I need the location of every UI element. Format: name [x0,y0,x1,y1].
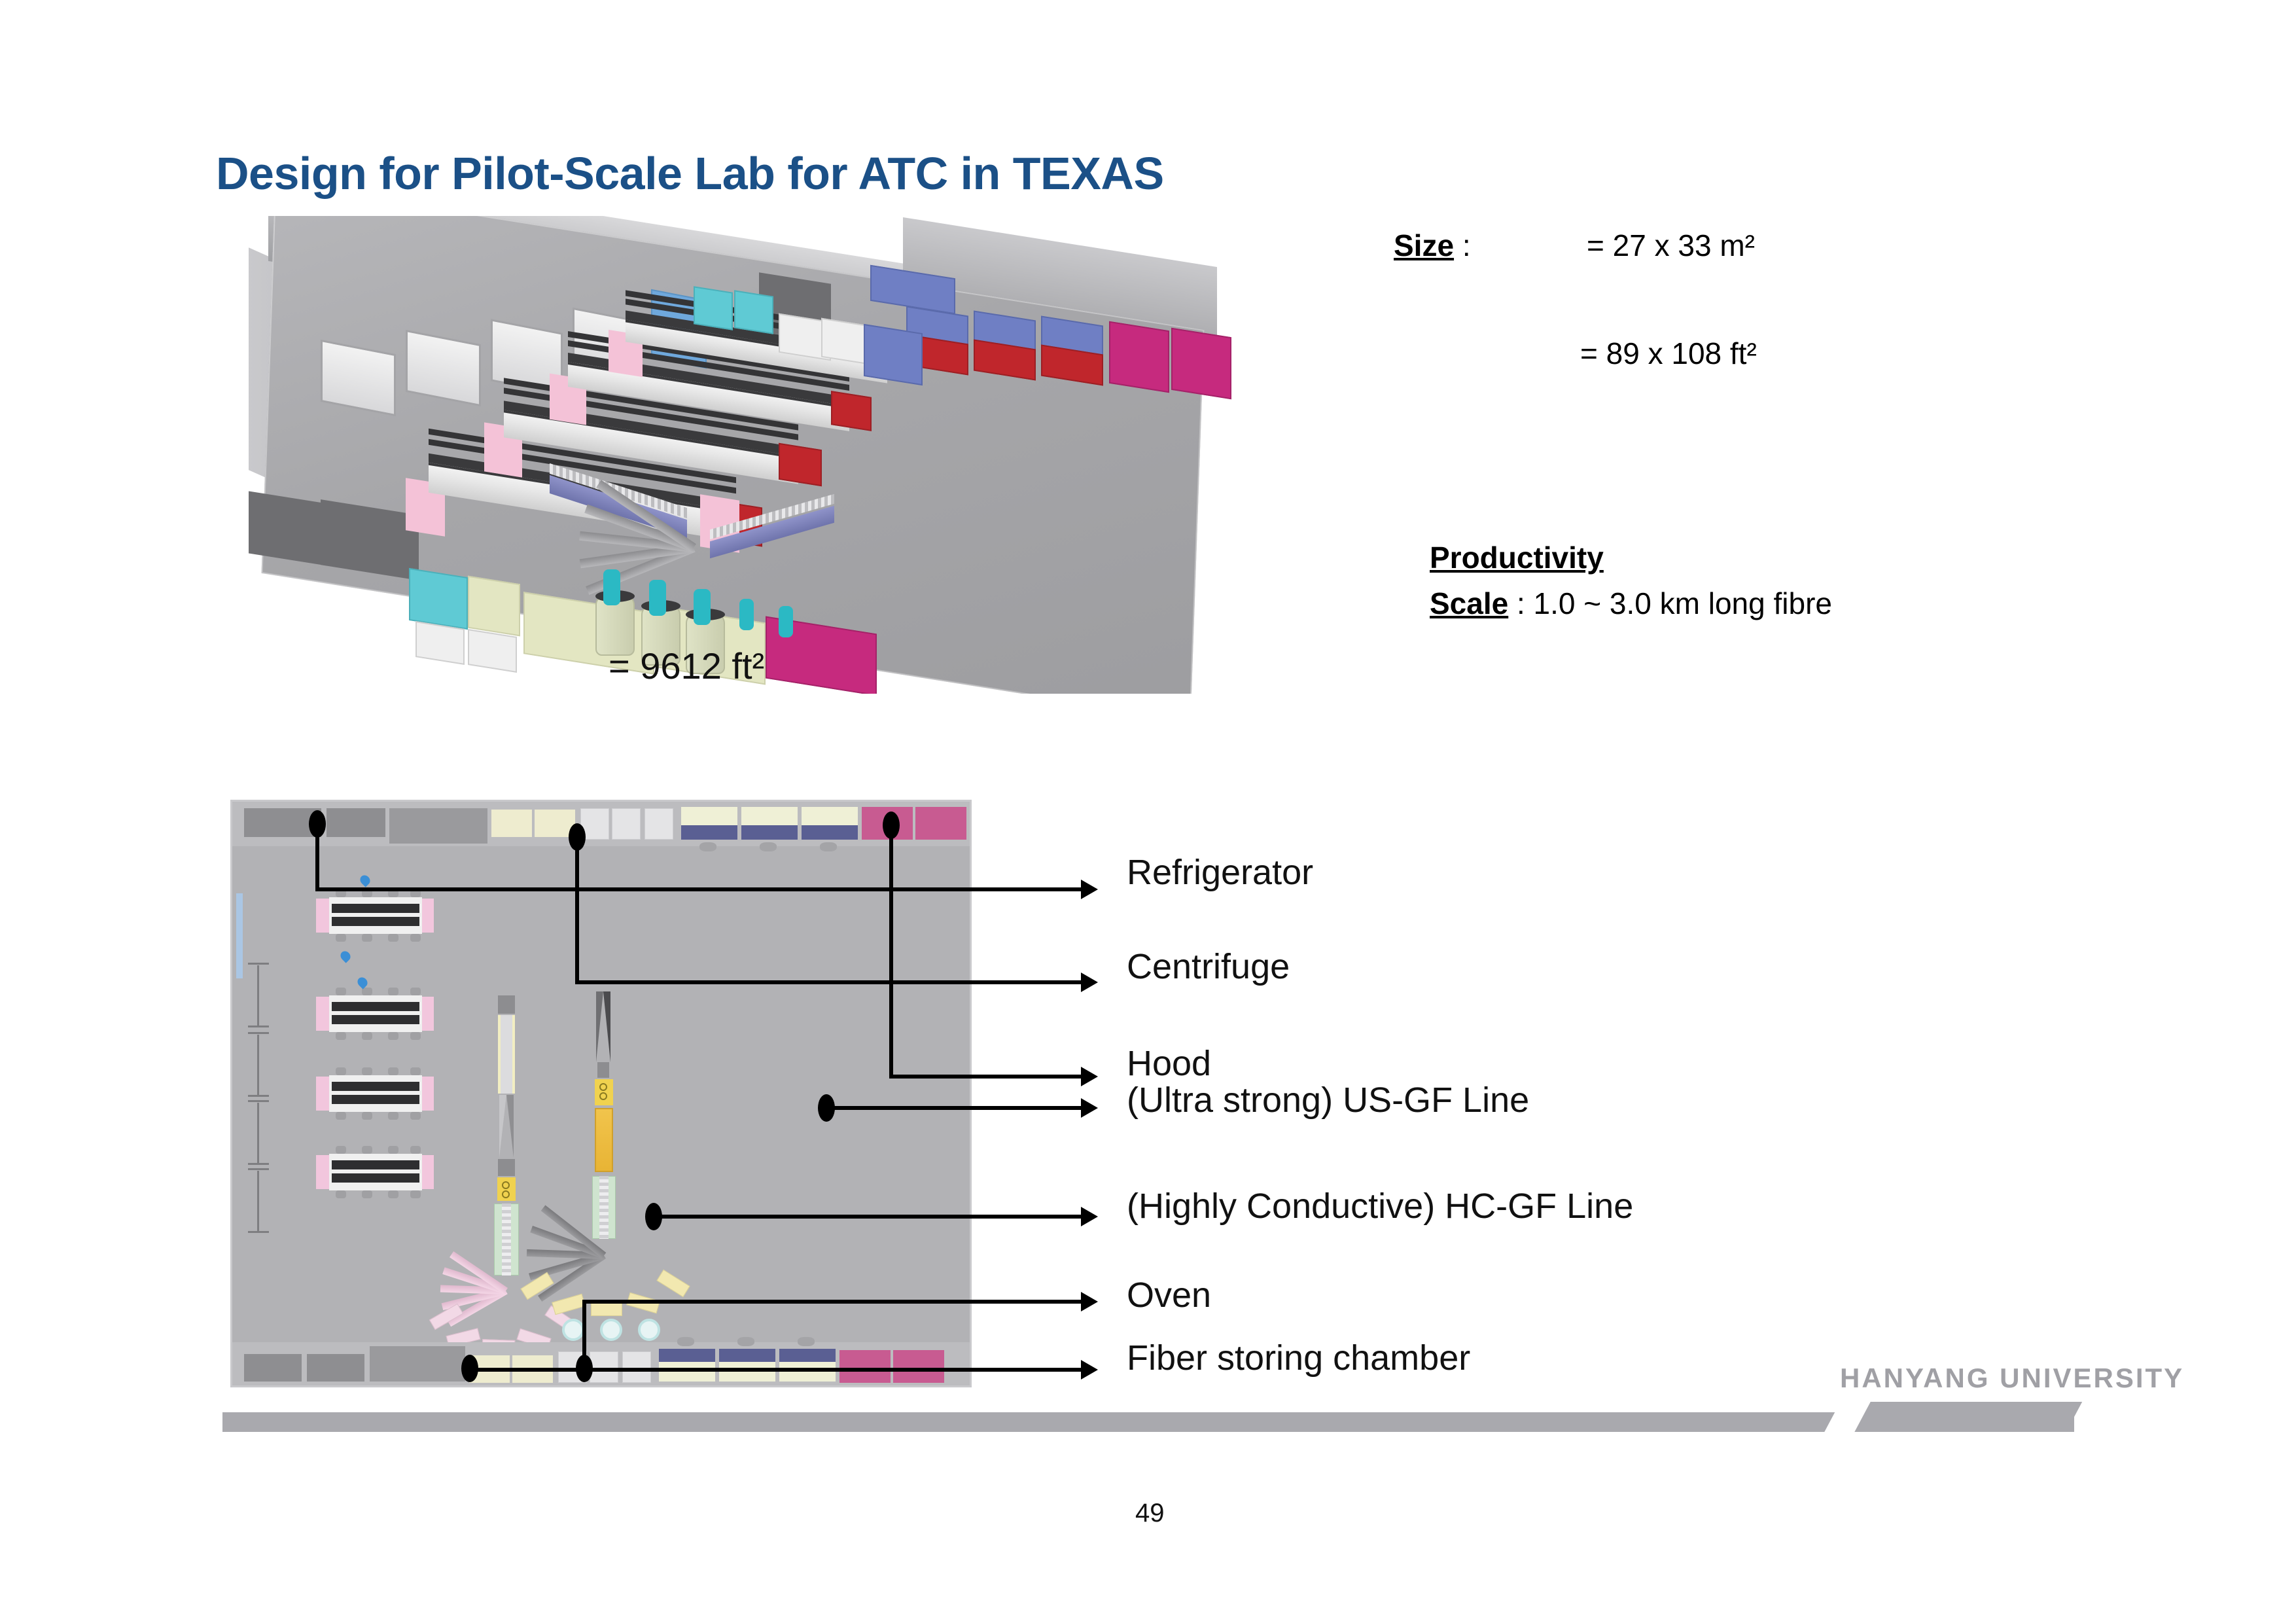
plan-module-grey [244,1354,302,1382]
render-shelving [468,629,517,673]
plan-module-cabinet [645,808,673,840]
render-cabinet [694,286,733,330]
plan-hood-knob [820,842,837,851]
scale-label-text: Scale [1430,586,1508,620]
hcgf-spinneret-tip [591,1303,622,1316]
lab-3d-render: = 9612 ft² [242,216,1250,694]
render-area-label: = 9612 ft² [609,645,764,687]
callout-label-centrifuge: Centrifuge [1127,946,1290,987]
callout-leader-refrigerator [315,887,1081,891]
callout-arrow-hcgf [1081,1207,1098,1226]
productivity-label: Productivity [1430,540,1604,575]
callout-dot-refrigerator [309,810,326,838]
hcgf-taper-head [596,991,610,1062]
hcgf-bath-core [599,1176,609,1239]
render-shelving [415,621,465,665]
plan-module-hood-panel [659,1349,715,1363]
usgf-bath-core [502,1204,511,1275]
scale-value-text: : 1.0 ~ 3.0 km long fibre [1508,586,1832,620]
usgf-taper [499,1095,514,1158]
plan-module-hood [741,807,798,827]
usgf-spool [502,1181,510,1189]
callout-leader-usgf [826,1106,1081,1110]
size-value-imperial: = 89 x 108 ft² [1580,336,1757,371]
usgf-tube-edge [512,1015,515,1094]
plan-marker-icon [338,949,352,963]
productivity-label-text: Productivity [1430,541,1604,575]
render-cabinet [1171,328,1231,400]
callout-arrow-oven [1081,1292,1098,1311]
plan-marker-icon [358,873,372,887]
render-teal-vessel [779,606,793,637]
callout-label-hood: Hood [1127,1043,1211,1084]
plan-module-hood-panel [779,1349,836,1363]
plan-module-refrigerator [839,1350,891,1383]
callout-arrow-refrigerator [1081,880,1098,899]
plan-module-grey [327,808,385,837]
callout-dot-usgf [818,1094,835,1122]
size-label: Size : [1394,228,1471,263]
size-label-text: Size [1394,228,1454,262]
plan-module-cabinet [622,1351,651,1383]
callout-label-usgf: (Ultra strong) US-GF Line [1127,1080,1529,1120]
plan-module-grey [389,808,487,844]
callout-arrow-usgf [1081,1098,1098,1118]
plan-module-hood [681,807,737,827]
plan-module-hood-panel [802,825,858,840]
hcgf-spool [599,1092,607,1100]
footer-bar-accent [1850,1402,2082,1432]
render-shelving [468,576,520,637]
callout-dot-centrifuge [569,823,586,851]
plan-module-hood [802,807,858,827]
callout-leader-fiber-storing-chamber [468,1368,1081,1372]
plan-hood-knob [699,842,716,851]
render-shelving [409,568,468,630]
hcgf-spool [599,1083,607,1091]
usgf-head-block [498,995,515,1014]
callout-leader-oven [582,1300,586,1363]
callout-leader-hood [889,823,893,1077]
plan-module-hood-panel [681,825,737,840]
slide-canvas: Design for Pilot-Scale Lab for ATC in TE… [0,0,2296,1623]
usgf-tube-edge [498,1015,501,1094]
render-teal-vessel [649,580,666,616]
plan-hood-knob [798,1337,815,1346]
plan-fiber-roll [562,1319,584,1341]
plan-module-grey [307,1354,364,1382]
callout-arrow-fiber-storing-chamber [1081,1360,1098,1380]
callout-leader-hood [889,1075,1081,1079]
size-colon: : [1454,228,1471,262]
plan-module-refrigerator [893,1350,944,1383]
render-cabinet [734,290,773,334]
size-value-metric: = 27 x 33 m² [1587,228,1755,263]
hcgf-block [597,1062,609,1078]
plan-module-cream [491,810,532,837]
render-teal-vessel [603,569,620,605]
callout-dot-hcgf [645,1203,662,1230]
hcgf-spinneret-tip [656,1270,690,1297]
render-teal-vessel [694,589,711,625]
callout-label-refrigerator: Refrigerator [1127,852,1313,893]
plan-module-hood [659,1362,715,1382]
plan-module-hood [779,1362,836,1382]
plan-fiber-roll [600,1319,622,1341]
plan-fiber-roll [638,1319,660,1341]
callout-leader-oven [582,1300,1081,1304]
hcgf-spinneret-tip [552,1294,586,1315]
productivity-scale: Scale : 1.0 ~ 3.0 km long fibre [1430,586,1832,621]
plan-module-refrigerator [915,807,966,840]
plan-hood-knob [760,842,777,851]
page-number: 49 [1135,1499,1165,1528]
render-cabinet [1109,321,1169,393]
plan-module-hood [719,1362,775,1382]
university-logo-text: HANYANG UNIVERSITY [1840,1363,2184,1394]
callout-label-oven: Oven [1127,1275,1211,1315]
callout-leader-hcgf [654,1215,1081,1219]
hcgf-oven [595,1108,613,1172]
plan-hood-knob [677,1337,694,1346]
render-cabinet [864,324,923,385]
callout-leader-centrifuge [575,835,579,983]
usgf-mid-block [498,1159,515,1176]
plan-module-hood-panel [719,1349,775,1363]
render-cabinet [831,391,872,431]
usgf-spool [502,1190,510,1198]
render-teal-vessel [739,599,754,630]
callout-dot-hood [883,811,900,839]
plan-module-hood-panel [741,825,798,840]
callout-arrow-centrifuge [1081,972,1098,992]
callout-label-hcgf: (Highly Conductive) HC-GF Line [1127,1186,1633,1226]
callout-label-fiber-storing-chamber: Fiber storing chamber [1127,1338,1470,1378]
callout-arrow-hood [1081,1067,1098,1086]
footer-bar [222,1412,2074,1432]
callout-dot-fiber-storing-chamber [461,1355,478,1382]
render-cabinet [779,443,822,486]
plan-module-cabinet [590,1351,618,1383]
plan-module-grey [370,1346,465,1382]
plan-module-cabinet [612,808,641,840]
plan-left-blue-strip [236,893,243,978]
callout-dot-oven [576,1355,593,1382]
page-title: Design for Pilot-Scale Lab for ATC in TE… [216,147,1164,200]
usgf-tube [499,1015,514,1094]
callout-leader-centrifuge [575,980,1081,984]
render-floor-block [249,491,327,565]
plan-hood-knob [737,1337,754,1346]
